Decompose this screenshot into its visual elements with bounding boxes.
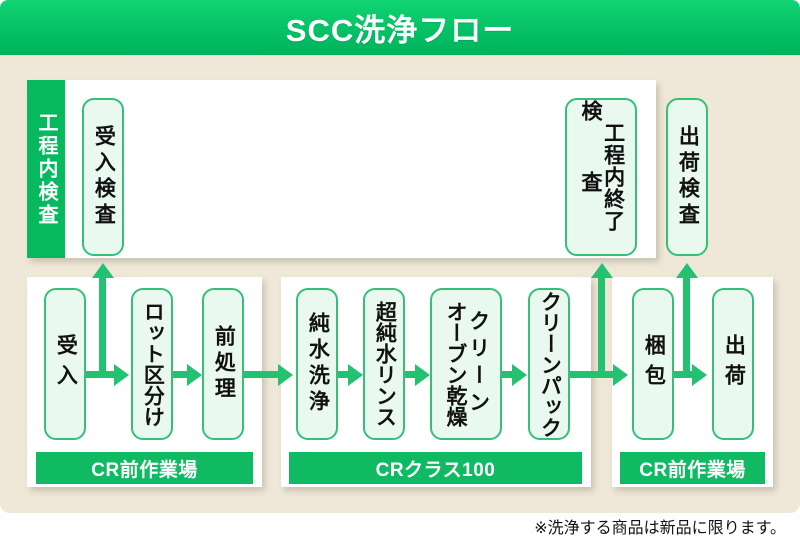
group-footer-cr-pre-work-area-1: CR前作業場: [36, 452, 253, 484]
arrow-receiving-to-lot-sorting: [114, 364, 129, 386]
process-box-clean-oven-dry[interactable]: クリーン オーブン乾燥: [430, 288, 502, 440]
inspection-box-process-end-inspection[interactable]: 工程内終了 検査: [565, 98, 637, 256]
inspection-box-label: 受入検査: [92, 125, 115, 229]
connector-branch-to-process-end-inspection: [598, 278, 605, 375]
arrow-branch-to-receiving-inspection: [92, 263, 114, 278]
arrow-pre-treatment-to-pure-water-wash: [278, 364, 293, 386]
arrow-clean-oven-dry-to-clean-pack: [512, 364, 527, 386]
inspection-box-shipping-inspection[interactable]: 出荷検査: [666, 98, 708, 256]
inspection-box-receiving-inspection[interactable]: 受入検査: [82, 98, 124, 256]
arrow-lot-sorting-to-pre-treatment: [187, 364, 202, 386]
process-box-label: 純水洗浄: [306, 312, 329, 416]
process-box-label: 超純水リンス: [373, 301, 396, 427]
process-box-clean-pack[interactable]: クリーンパック: [528, 288, 570, 440]
arrow-branch-to-process-end-inspection: [591, 263, 613, 278]
inspection-strip-label: 工程内検査: [27, 80, 65, 258]
group-footer-label: CRクラス100: [376, 455, 496, 482]
group-footer-label: CR前作業場: [639, 455, 745, 482]
arrow-clean-pack-to-packing: [613, 364, 628, 386]
group-footer-cr-pre-work-area-2: CR前作業場: [620, 452, 765, 484]
connector-branch-to-receiving-inspection: [99, 278, 106, 375]
arrow-branch-to-shipping-inspection: [676, 263, 698, 278]
process-box-label: 梱包: [642, 334, 665, 394]
page-title: SCC洗浄フロー: [286, 5, 514, 50]
connector-clean-pack-to-packing: [570, 371, 615, 378]
process-box-lot-sorting[interactable]: ロット区分け: [131, 288, 173, 440]
process-box-label: 出荷: [722, 334, 745, 394]
process-box-ultrapure-water-rinse[interactable]: 超純水リンス: [363, 288, 405, 440]
process-box-receiving[interactable]: 受入: [44, 288, 86, 440]
inspection-box-label: 出荷検査: [676, 125, 699, 229]
diagram-header: SCC洗浄フロー: [0, 0, 800, 55]
flow-diagram-canvas: SCC洗浄フロー 工程内検査 受入検査 工程内終了 検査 出荷検査 受入 ロット…: [0, 0, 800, 546]
process-box-label-col2: オーブン乾燥: [443, 301, 466, 427]
arrow-ultrapure-water-rinse-to-clean-oven-dry: [415, 364, 430, 386]
group-footer-cr-class-100: CRクラス100: [289, 452, 582, 484]
process-box-label: クリーンパック: [538, 291, 561, 438]
process-box-label: 受入: [54, 334, 77, 394]
process-box-shipping[interactable]: 出荷: [712, 288, 754, 440]
process-box-label: ロット区分け: [141, 301, 164, 427]
inspection-box-label-col2: 検査: [578, 100, 601, 242]
inspection-box-label-col1: 工程内終了: [601, 122, 624, 232]
process-box-pure-water-wash[interactable]: 純水洗浄: [296, 288, 338, 440]
arrow-pure-water-wash-to-ultrapure-water-rinse: [348, 364, 363, 386]
connector-pre-treatment-to-pure-water-wash: [244, 371, 280, 378]
process-box-packing[interactable]: 梱包: [632, 288, 674, 440]
connector-branch-to-shipping-inspection: [683, 278, 690, 375]
arrow-packing-to-shipping: [692, 364, 707, 386]
process-box-pre-treatment[interactable]: 前処理: [202, 288, 244, 440]
process-box-label-col1: クリーン: [466, 310, 489, 418]
inspection-strip-label-text: 工程内検査: [36, 112, 56, 227]
process-box-label: 前処理: [212, 325, 235, 403]
footnote: ※洗浄する商品は新品に限ります。: [534, 514, 786, 538]
group-footer-label: CR前作業場: [91, 455, 197, 482]
